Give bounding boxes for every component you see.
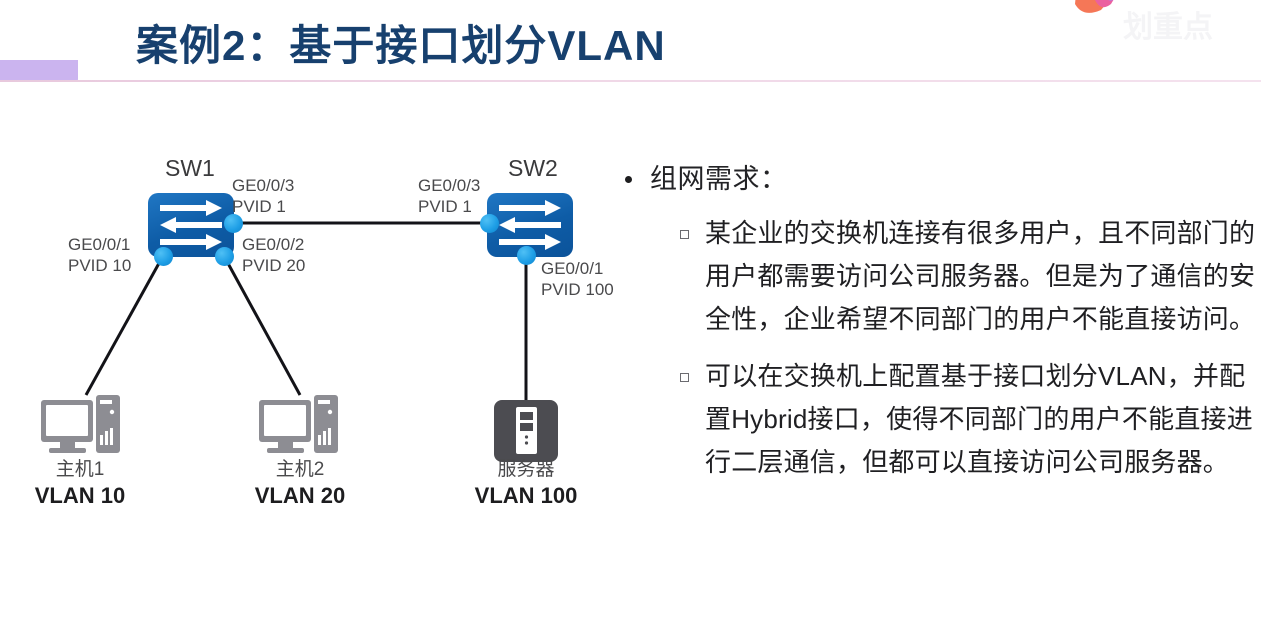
endpoint-vlan: VLAN 10 <box>0 482 160 510</box>
caption-server: 服务器 VLAN 100 <box>446 458 606 510</box>
port-pvid: PVID 1 <box>418 196 480 217</box>
pc-icon <box>258 395 340 461</box>
caption-host2: 主机2 VLAN 20 <box>220 458 380 510</box>
header-divider <box>0 80 1261 82</box>
endpoint-host2[interactable] <box>258 395 340 466</box>
caption-host1: 主机1 VLAN 10 <box>0 458 160 510</box>
title-accent-bar <box>0 60 78 81</box>
requirements-heading-item: 组网需求： <box>625 160 1261 198</box>
port-dot-sw1-ge0-0-2[interactable] <box>215 247 234 266</box>
bullet-hollow-icon <box>680 230 689 239</box>
pc-icon <box>40 395 122 461</box>
port-name: GE0/0/1 <box>68 234 131 255</box>
port-name: GE0/0/3 <box>418 175 480 196</box>
requirements-panel: 组网需求： 某企业的交换机连接有很多用户，且不同部门的用户都需要访问公司服务器。… <box>625 160 1261 484</box>
watermark-logo: 划重点 <box>1071 0 1261 38</box>
requirements-heading: 组网需求： <box>650 160 788 198</box>
bullet-filled-icon <box>625 176 632 183</box>
port-label-sw1-ge0-0-1: GE0/0/1 PVID 10 <box>68 234 131 276</box>
port-dot-sw2-ge0-0-3[interactable] <box>480 214 499 233</box>
requirement-text: 某企业的交换机连接有很多用户，且不同部门的用户都需要访问公司服务器。但是为了通信… <box>705 212 1261 341</box>
port-label-sw2-ge0-0-1: GE0/0/1 PVID 100 <box>541 258 614 300</box>
network-topology-diagram: SW1 GE0/0/3 PVID 1 GE0/0/1 PVID 10 GE0/0… <box>0 95 620 622</box>
requirement-item-2: 可以在交换机上配置基于接口划分VLAN，并配置Hybrid接口，使得不同部门的用… <box>680 355 1261 484</box>
port-dot-sw2-ge0-0-1[interactable] <box>517 246 536 265</box>
port-name: GE0/0/2 <box>242 234 305 255</box>
endpoint-name: 服务器 <box>446 458 606 482</box>
port-pvid: PVID 100 <box>541 279 614 300</box>
port-name: GE0/0/3 <box>232 175 294 196</box>
endpoint-vlan: VLAN 100 <box>446 482 606 510</box>
page-title: 案例2：基于接口划分VLAN <box>136 12 666 73</box>
link-sw1-host2 <box>224 256 300 395</box>
server-icon <box>494 400 558 462</box>
sw1-label: SW1 <box>165 155 215 182</box>
port-dot-sw1-ge0-0-1[interactable] <box>154 247 173 266</box>
port-label-sw2-ge0-0-3: GE0/0/3 PVID 1 <box>418 175 480 217</box>
requirement-item-1: 某企业的交换机连接有很多用户，且不同部门的用户都需要访问公司服务器。但是为了通信… <box>680 212 1261 341</box>
port-pvid: PVID 10 <box>68 255 131 276</box>
endpoint-host1[interactable] <box>40 395 122 466</box>
endpoint-name: 主机2 <box>220 458 380 482</box>
endpoint-vlan: VLAN 20 <box>220 482 380 510</box>
port-pvid: PVID 1 <box>232 196 294 217</box>
port-name: GE0/0/1 <box>541 258 614 279</box>
endpoint-server[interactable] <box>494 400 558 467</box>
endpoint-name: 主机1 <box>0 458 160 482</box>
port-label-sw1-ge0-0-3: GE0/0/3 PVID 1 <box>232 175 294 217</box>
link-sw1-host1 <box>86 256 163 395</box>
slide-canvas: 案例2：基于接口划分VLAN 划重点 SW1 <box>0 0 1261 622</box>
requirement-text: 可以在交换机上配置基于接口划分VLAN，并配置Hybrid接口，使得不同部门的用… <box>705 355 1261 484</box>
port-label-sw1-ge0-0-2: GE0/0/2 PVID 20 <box>242 234 305 276</box>
port-pvid: PVID 20 <box>242 255 305 276</box>
bullet-hollow-icon <box>680 373 689 382</box>
sw2-label: SW2 <box>508 155 558 182</box>
watermark-text: 划重点 <box>1123 2 1213 46</box>
